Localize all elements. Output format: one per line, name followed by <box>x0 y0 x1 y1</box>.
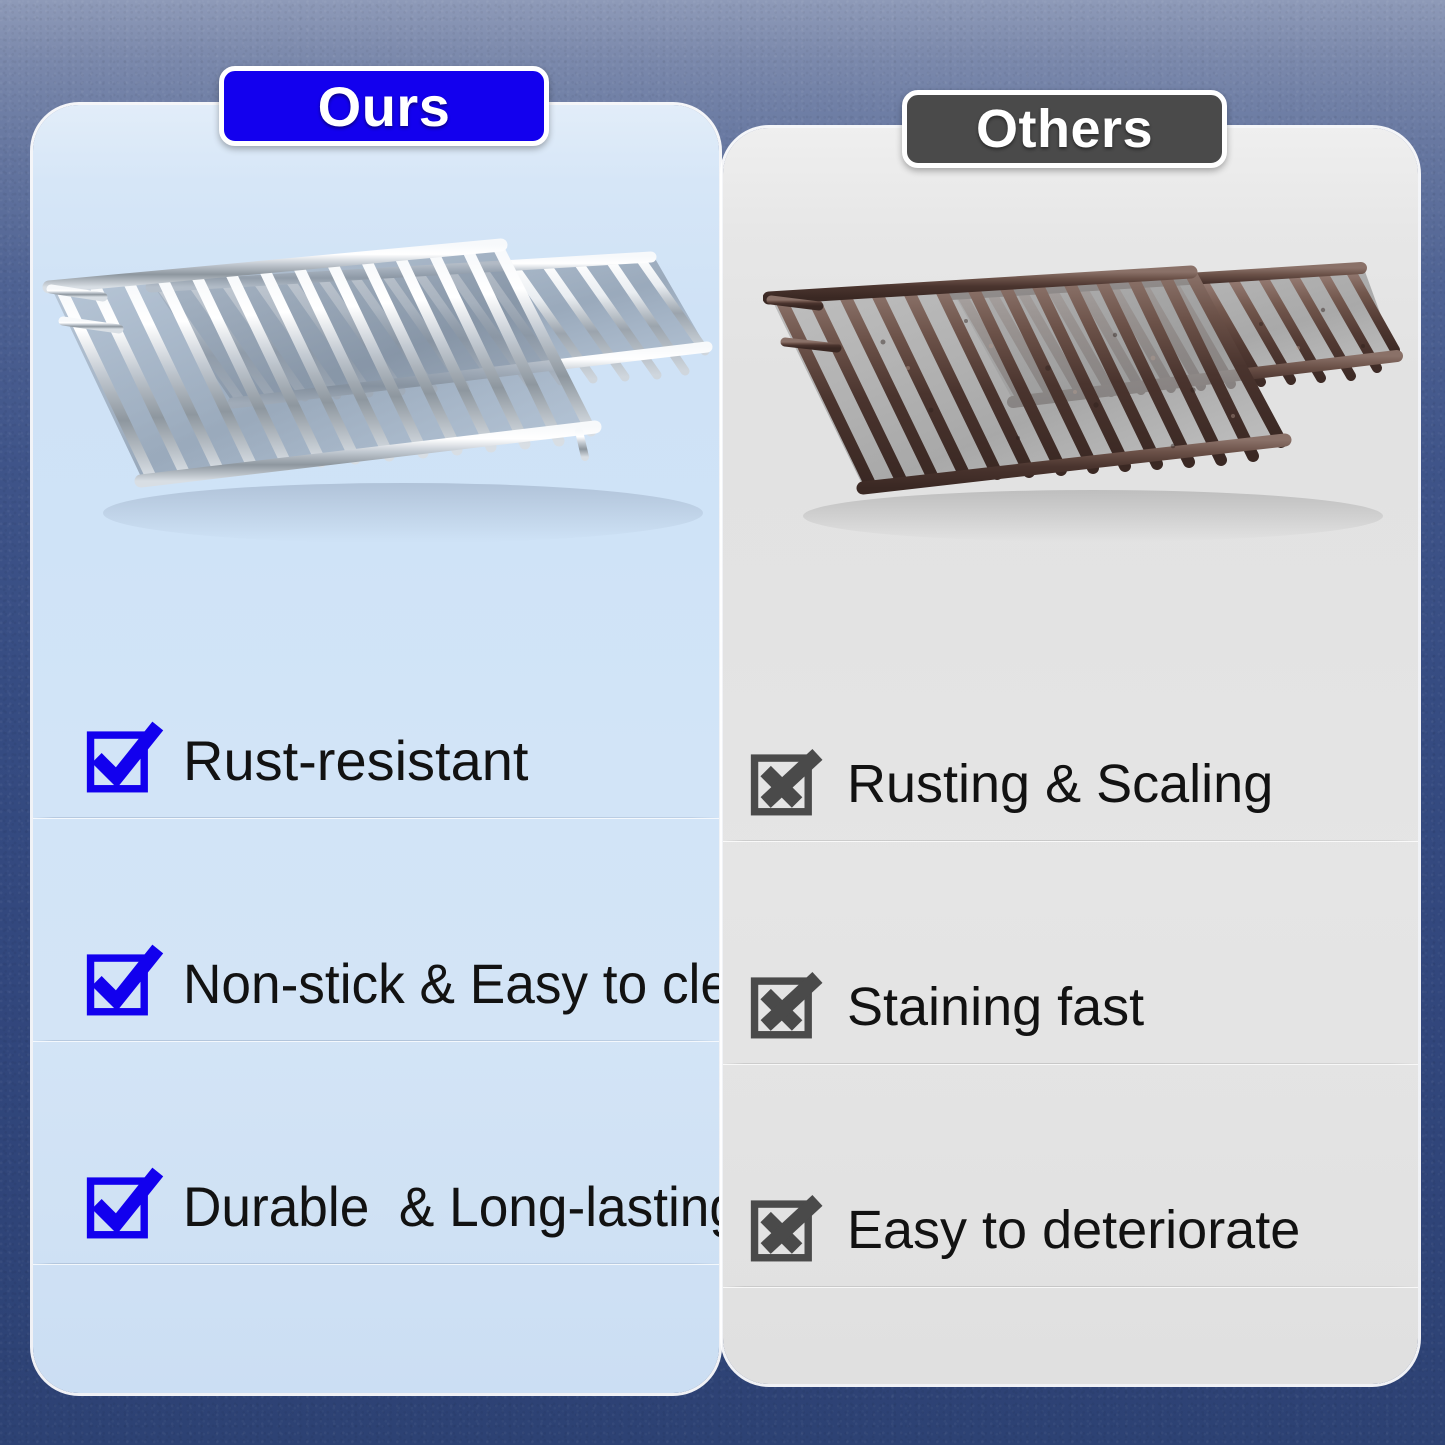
blue-checked-checkbox-icon <box>85 947 159 1021</box>
row-spacer <box>723 1064 1418 1174</box>
ours-badge: Ours <box>219 66 549 146</box>
row-spacer <box>33 818 719 928</box>
blue-checked-checkbox-icon <box>85 1170 159 1244</box>
feature-row-rust-resistant: Rust-resistant <box>33 705 719 817</box>
others-product-image <box>763 250 1403 550</box>
feature-label: Rusting & Scaling <box>847 756 1273 813</box>
feature-row-staining-fast: Staining fast <box>723 951 1418 1063</box>
feature-row-non-stick: Non-stick & Easy to clean <box>33 928 719 1040</box>
gray-crossed-checkbox-icon <box>749 1193 823 1267</box>
gray-crossed-checkbox-icon <box>749 970 823 1044</box>
comparison-infographic: Rust-resistant Non-stick & Easy to clean <box>0 0 1445 1445</box>
feature-label: Staining fast <box>847 979 1144 1036</box>
feature-row-easy-deteriorate: Easy to deteriorate <box>723 1174 1418 1286</box>
feature-row-rusting-scaling: Rusting & Scaling <box>723 728 1418 840</box>
gray-crossed-checkbox-icon <box>749 747 823 821</box>
row-divider <box>33 1263 719 1264</box>
feature-label: Rust-resistant <box>183 732 528 791</box>
others-badge: Others <box>902 90 1227 168</box>
ours-badge-label: Ours <box>318 74 451 139</box>
feature-label: Durable & Long-lasting <box>183 1178 719 1237</box>
ours-feature-list: Rust-resistant Non-stick & Easy to clean <box>33 705 719 1264</box>
others-badge-label: Others <box>976 98 1153 160</box>
rusted-grate-icon <box>763 250 1403 550</box>
others-panel: Rusting & Scaling Staining fast <box>723 128 1418 1384</box>
stainless-grate-icon <box>33 225 719 555</box>
blue-checked-checkbox-icon <box>85 724 159 798</box>
ours-product-image <box>33 225 719 555</box>
ours-panel: Rust-resistant Non-stick & Easy to clean <box>33 105 719 1393</box>
feature-row-durable: Durable & Long-lasting <box>33 1151 719 1263</box>
row-spacer <box>33 1041 719 1151</box>
others-feature-list: Rusting & Scaling Staining fast <box>723 728 1418 1287</box>
row-divider <box>723 1286 1418 1287</box>
row-spacer <box>723 841 1418 951</box>
feature-label: Non-stick & Easy to clean <box>183 955 719 1014</box>
feature-label: Easy to deteriorate <box>847 1202 1300 1259</box>
